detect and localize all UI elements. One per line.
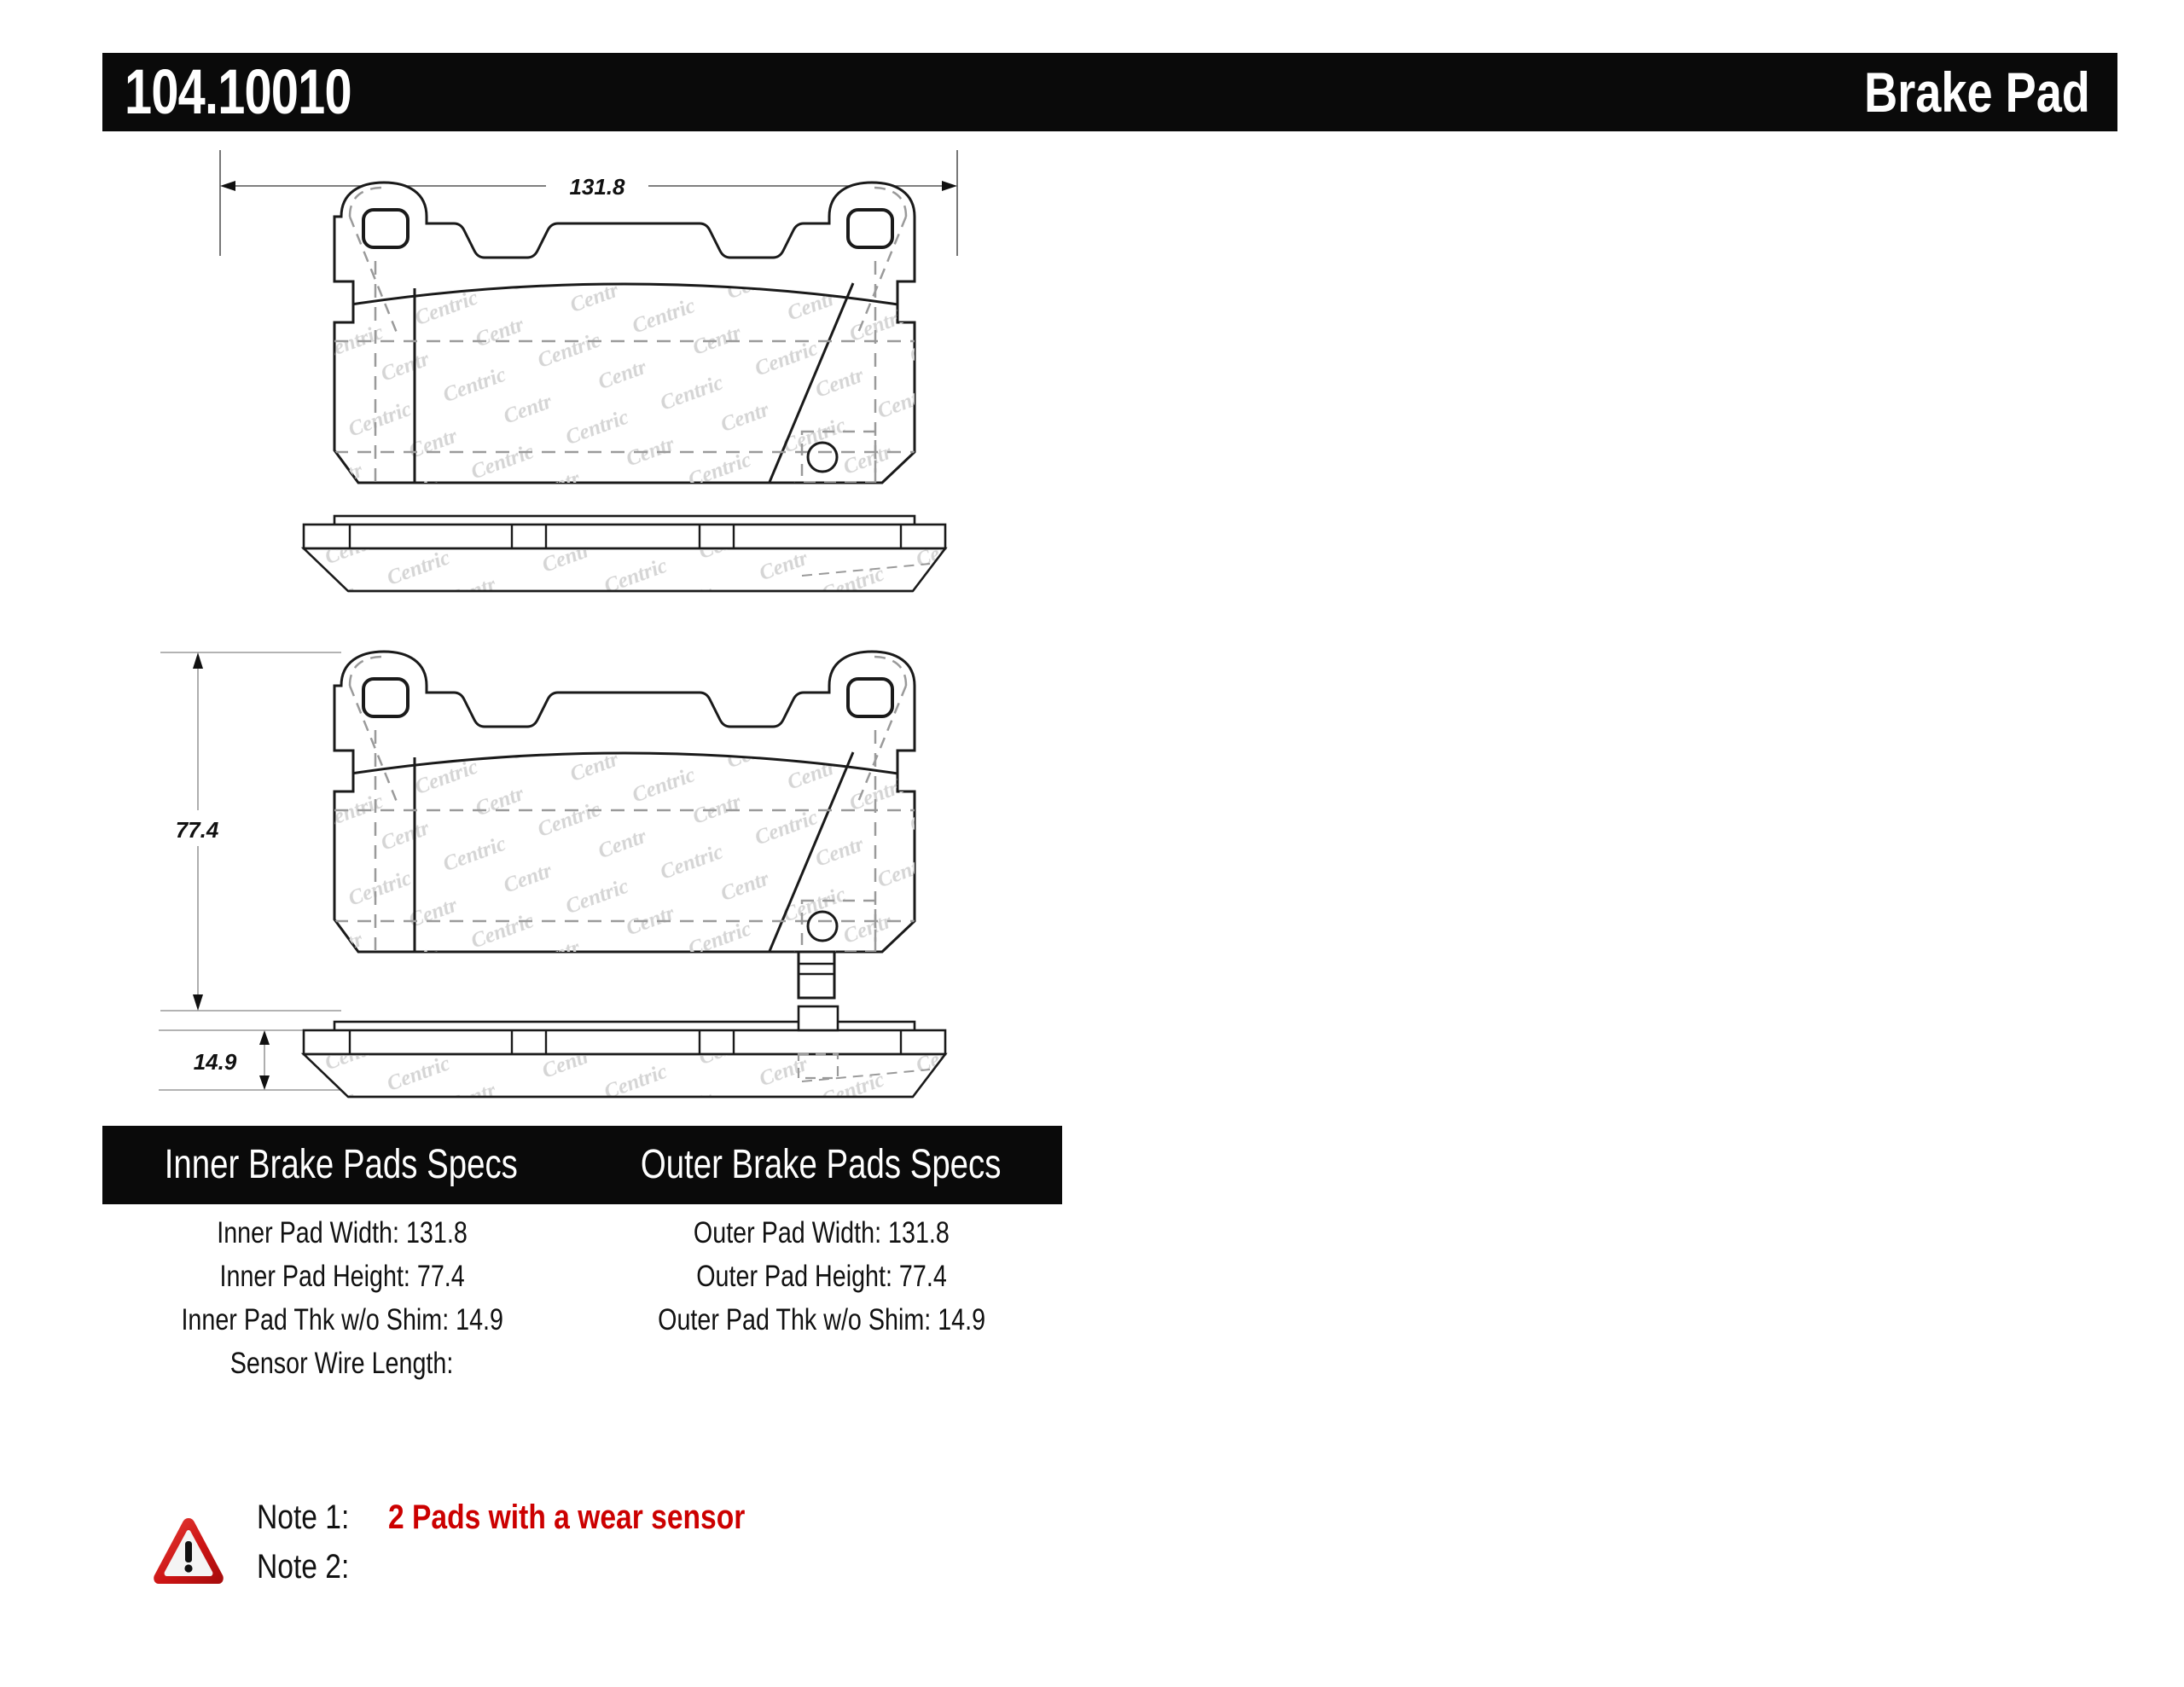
outer-pad-side-view: [304, 1006, 945, 1097]
spec-row: Inner Pad Thk w/o Shim: 14.9 Outer Pad T…: [102, 1298, 1062, 1342]
warning-triangle-icon: [149, 1510, 228, 1589]
outer-pad-face-view: [334, 652, 915, 998]
spec-table-header: Inner Brake Pads Specs Outer Brake Pads …: [102, 1126, 1062, 1204]
technical-drawing: Centric Centric 131.8: [0, 128, 1194, 1117]
page-title: Brake Pad: [1864, 64, 2090, 120]
spec-outer-pad-width: Outer Pad Width: 131.8: [582, 1218, 1061, 1248]
spec-inner-pad-width: Inner Pad Width: 131.8: [102, 1218, 582, 1248]
dimension-width-label: 131.8: [569, 174, 625, 200]
dimension-thickness-label: 14.9: [194, 1049, 237, 1075]
note-2-label: Note 2:: [257, 1550, 363, 1584]
note-1-value: 2 Pads with a wear sensor: [388, 1500, 745, 1534]
inner-pad-face-view: [334, 183, 915, 486]
spec-table-body: Inner Pad Width: 131.8 Outer Pad Width: …: [102, 1211, 1062, 1385]
product-spec-sheet: 104.10010 Brake Pad Centric Centric: [0, 0, 2184, 1687]
note-1-line: Note 1: 2 Pads with a wear sensor: [257, 1500, 813, 1550]
mounting-hole-left: [363, 679, 408, 716]
spec-inner-pad-height: Inner Pad Height: 77.4: [102, 1261, 582, 1291]
wear-sensor-tab: [799, 952, 834, 998]
spec-row: Inner Pad Width: 131.8 Outer Pad Width: …: [102, 1211, 1062, 1255]
wear-sensor-tab-side: [799, 1006, 838, 1030]
note-1-label: Note 1:: [257, 1500, 363, 1534]
mounting-hole-left: [363, 210, 408, 247]
spec-row: Inner Pad Height: 77.4 Outer Pad Height:…: [102, 1255, 1062, 1298]
spec-inner-pad-thickness: Inner Pad Thk w/o Shim: 14.9: [102, 1305, 582, 1335]
inner-specs-header: Inner Brake Pads Specs: [165, 1145, 518, 1186]
spec-row: Sensor Wire Length:: [102, 1342, 1062, 1385]
header-bar: 104.10010 Brake Pad: [102, 53, 2117, 131]
mounting-hole-right: [848, 210, 892, 247]
inner-pad-side-view: [304, 516, 945, 591]
spec-outer-pad-thickness: Outer Pad Thk w/o Shim: 14.9: [582, 1305, 1061, 1335]
notes-section: Note 1: 2 Pads with a wear sensor Note 2…: [149, 1497, 1088, 1599]
mounting-hole-right: [848, 679, 892, 716]
notes-text-block: Note 1: 2 Pads with a wear sensor Note 2…: [257, 1497, 813, 1599]
outer-specs-header: Outer Brake Pads Specs: [641, 1145, 1002, 1186]
dimension-height-label: 77.4: [176, 817, 219, 843]
part-number: 104.10010: [125, 61, 351, 124]
spec-outer-empty: [582, 1348, 1061, 1378]
spec-sensor-wire-length: Sensor Wire Length:: [102, 1348, 582, 1378]
spec-outer-pad-height: Outer Pad Height: 77.4: [582, 1261, 1061, 1291]
note-2-line: Note 2:: [257, 1550, 813, 1599]
